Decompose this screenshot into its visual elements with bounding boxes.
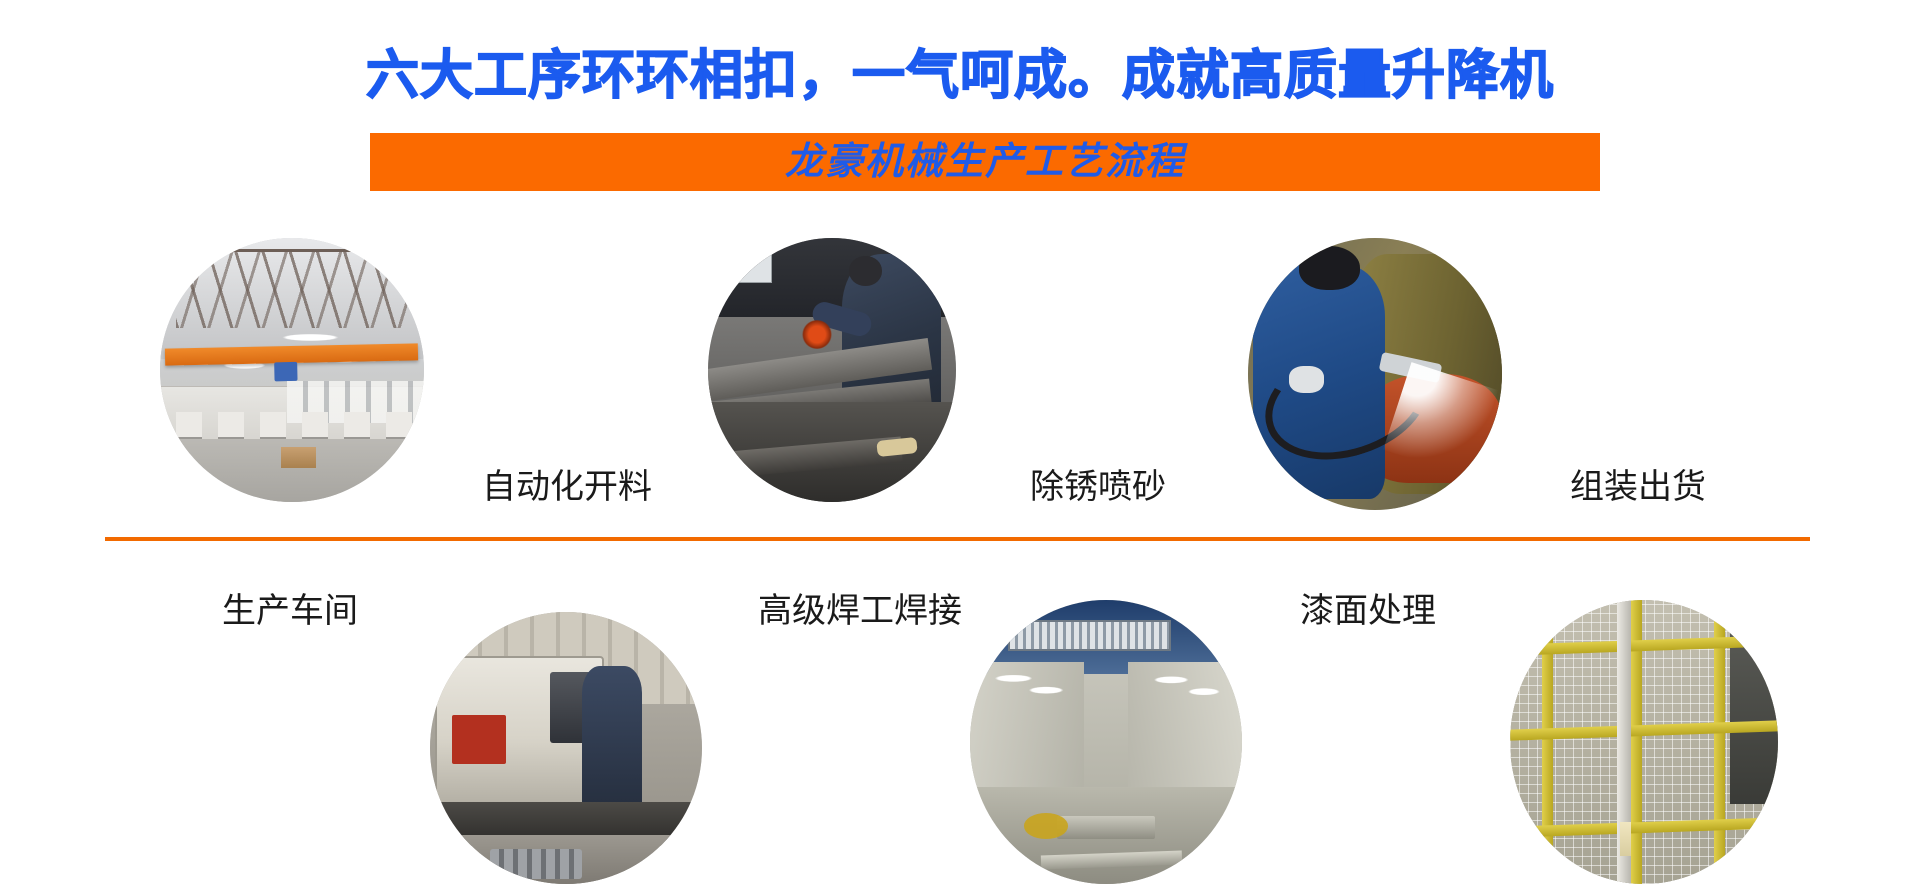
banner-title: 龙豪机械生产工艺流程 bbox=[785, 139, 1185, 185]
workshop-hall-photo bbox=[160, 238, 424, 502]
sandblasting-photo bbox=[1248, 238, 1502, 510]
page-title: 六大工序环环相扣，一气呵成。成就高质量升降机 bbox=[0, 44, 1920, 108]
process-flow-page: 六大工序环环相扣，一气呵成。成就高质量升降机 龙豪机械生产工艺流程 bbox=[0, 0, 1920, 884]
section-divider bbox=[105, 537, 1810, 541]
paint-booth-photo bbox=[970, 600, 1242, 884]
label-automatic-cutting: 自动化开料 bbox=[482, 466, 652, 508]
automatic-cutting-photo bbox=[708, 238, 956, 502]
label-welding: 高级焊工焊接 bbox=[758, 590, 962, 632]
cnc-lathe-photo bbox=[430, 612, 702, 884]
label-assembly-shipping: 组装出货 bbox=[1570, 466, 1706, 508]
label-workshop: 生产车间 bbox=[222, 590, 358, 632]
label-sandblasting: 除锈喷砂 bbox=[1030, 466, 1166, 508]
label-painting: 漆面处理 bbox=[1300, 590, 1436, 632]
section-banner: 龙豪机械生产工艺流程 bbox=[370, 133, 1600, 191]
assembly-shipping-photo bbox=[1510, 600, 1778, 884]
